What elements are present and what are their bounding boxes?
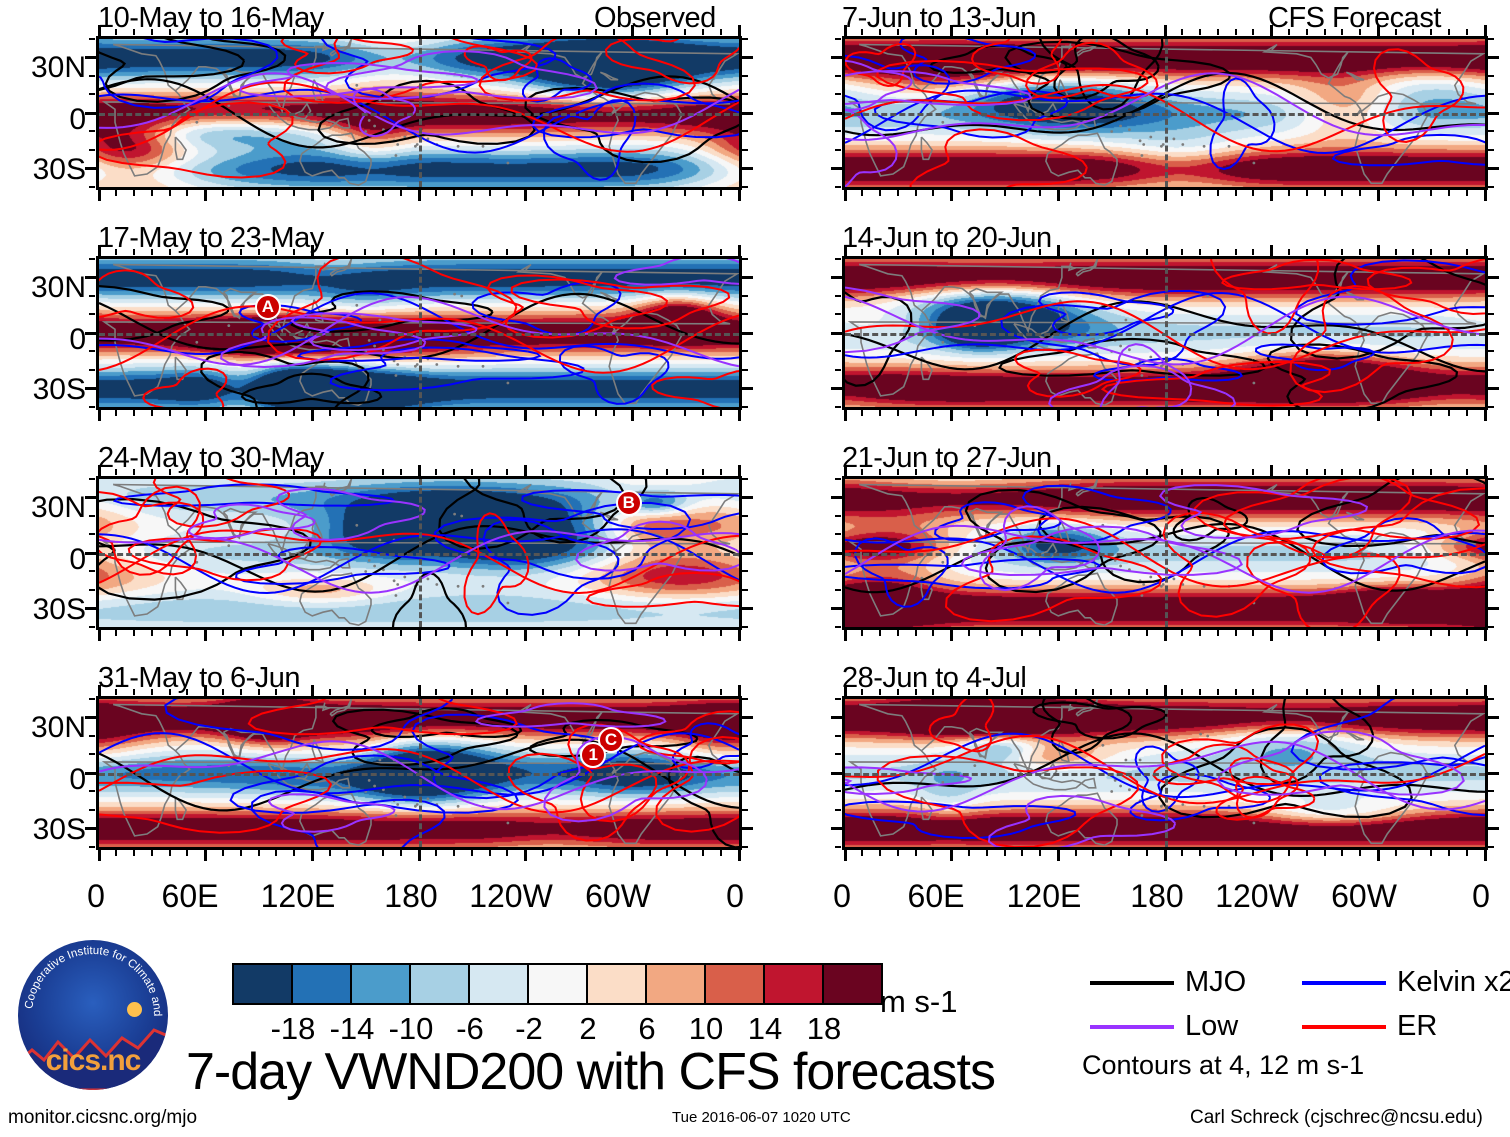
x-tick-top-fcst-2-0 xyxy=(844,245,847,256)
x-tick-top-obs-4-150 xyxy=(364,689,366,695)
x-tick-obs-4-70 xyxy=(222,850,224,856)
x-tick-top-obs-1-60 xyxy=(204,25,207,36)
x-tick-top-obs-3-230 xyxy=(506,469,508,475)
y-tick-r-obs-4-40 xyxy=(742,698,748,700)
x-tick-top-obs-3-290 xyxy=(613,469,615,475)
x-tick-top-obs-3-110 xyxy=(293,469,295,475)
y-tick-r-fcst-4-10 xyxy=(1488,753,1494,755)
panel-title-obs-3: 24-May to 30-May xyxy=(98,444,324,473)
x-tick-top-fcst-3-250 xyxy=(1288,469,1290,475)
x-tick-fcst-4-240 xyxy=(1270,850,1273,861)
x-tick-obs-3-40 xyxy=(169,630,171,636)
x-tick-obs-1-290 xyxy=(613,190,615,196)
x-tick-top-obs-1-220 xyxy=(489,29,491,35)
x-tick-top-obs-2-220 xyxy=(489,249,491,255)
x-tick-top-obs-4-20 xyxy=(133,689,135,695)
panel-title-fcst-3: 21-Jun to 27-Jun xyxy=(842,444,1052,473)
x-tick-top-obs-1-310 xyxy=(649,29,651,35)
x-tick-obs-4-100 xyxy=(275,850,277,856)
x-tick-top-obs-4-120 xyxy=(311,685,314,696)
legend-swatch-kelvin xyxy=(1302,981,1386,985)
x-tick-top-obs-1-100 xyxy=(275,29,277,35)
contour-note: Contours at 4, 12 m s-1 xyxy=(1082,1052,1364,1079)
contour-kelvin xyxy=(1292,699,1486,769)
x-tick-top-fcst-3-60 xyxy=(950,465,953,476)
x-tick-top-obs-2-240 xyxy=(524,245,527,256)
y-tick-obs-4--10 xyxy=(89,790,95,792)
y-tick-r-fcst-1-40 xyxy=(1488,38,1494,40)
dateline xyxy=(1165,259,1168,407)
x-axis-label-left-120e: 120E xyxy=(253,880,343,912)
y-tick-obs-4-40 xyxy=(89,698,95,700)
legend-item-low: Low xyxy=(1090,1012,1238,1041)
x-tick-top-obs-2-360 xyxy=(738,245,741,256)
x-tick-obs-2-220 xyxy=(489,410,491,416)
x-tick-top-fcst-3-0 xyxy=(844,465,847,476)
x-tick-top-fcst-1-170 xyxy=(1146,29,1148,35)
x-tick-fcst-2-360 xyxy=(1484,410,1487,421)
x-tick-obs-1-120 xyxy=(311,190,314,201)
y-tick-r-fcst-4-0 xyxy=(1488,772,1499,775)
y-tick-r-obs-1--20 xyxy=(742,149,748,151)
x-tick-fcst-1-320 xyxy=(1412,190,1414,196)
x-tick-obs-2-0 xyxy=(98,410,101,421)
x-tick-obs-4-260 xyxy=(560,850,562,856)
x-tick-top-obs-1-20 xyxy=(133,29,135,35)
y-tick-r-fcst-4-30 xyxy=(1488,716,1499,719)
x-tick-fcst-2-290 xyxy=(1359,410,1361,416)
x-tick-obs-1-60 xyxy=(204,190,207,201)
x-tick-obs-3-200 xyxy=(453,630,455,636)
x-tick-fcst-1-70 xyxy=(968,190,970,196)
x-tick-top-fcst-1-180 xyxy=(1164,25,1167,36)
x-tick-obs-2-330 xyxy=(684,410,686,416)
x-tick-obs-2-130 xyxy=(329,410,331,416)
x-tick-obs-3-340 xyxy=(702,630,704,636)
x-tick-fcst-3-150 xyxy=(1110,630,1112,636)
x-tick-obs-1-110 xyxy=(293,190,295,196)
x-tick-obs-4-190 xyxy=(435,850,437,856)
y-tick-fcst-2-10 xyxy=(835,313,841,315)
map-marker-1[interactable]: 1 xyxy=(580,742,606,768)
x-tick-top-fcst-1-0 xyxy=(844,25,847,36)
x-axis-label-right-180: 180 xyxy=(1117,880,1197,912)
y-tick-r-fcst-4--40 xyxy=(1488,846,1494,848)
x-tick-top-fcst-3-30 xyxy=(897,469,899,475)
y-tick-fcst-2-20 xyxy=(835,295,841,297)
x-tick-fcst-2-20 xyxy=(879,410,881,416)
x-tick-top-fcst-2-210 xyxy=(1217,249,1219,255)
x-tick-top-fcst-2-250 xyxy=(1288,249,1290,255)
contour-kelvin xyxy=(484,520,619,615)
x-tick-obs-2-70 xyxy=(222,410,224,416)
y-tick-r-obs-1-0 xyxy=(742,112,753,115)
x-tick-obs-4-150 xyxy=(364,850,366,856)
x-tick-obs-2-160 xyxy=(382,410,384,416)
x-tick-fcst-3-120 xyxy=(1057,630,1060,641)
x-tick-top-obs-3-120 xyxy=(311,465,314,476)
x-tick-top-fcst-1-300 xyxy=(1377,25,1380,36)
x-tick-obs-3-260 xyxy=(560,630,562,636)
x-axis-label-left-60w: 60W xyxy=(578,880,658,912)
x-tick-fcst-2-150 xyxy=(1110,410,1112,416)
x-tick-fcst-2-270 xyxy=(1324,410,1326,416)
x-tick-top-obs-3-200 xyxy=(453,469,455,475)
y-tick-r-obs-3--40 xyxy=(742,626,748,628)
y-tick-fcst-4-40 xyxy=(835,698,841,700)
y-tick-obs-4--30 xyxy=(85,827,96,830)
x-tick-top-obs-3-60 xyxy=(204,465,207,476)
map-marker-b[interactable]: B xyxy=(616,490,642,516)
x-tick-fcst-1-260 xyxy=(1306,190,1308,196)
x-tick-top-obs-1-80 xyxy=(240,29,242,35)
y-tick-r-obs-1--30 xyxy=(742,167,753,170)
x-tick-obs-1-80 xyxy=(240,190,242,196)
x-tick-fcst-4-80 xyxy=(986,850,988,856)
x-tick-obs-1-240 xyxy=(524,190,527,201)
x-tick-top-fcst-1-330 xyxy=(1430,29,1432,35)
x-tick-top-obs-3-170 xyxy=(400,469,402,475)
x-tick-top-obs-2-30 xyxy=(151,249,153,255)
x-tick-obs-4-110 xyxy=(293,850,295,856)
x-tick-fcst-1-20 xyxy=(879,190,881,196)
map-panel-obs-4[interactable] xyxy=(96,696,742,850)
x-tick-fcst-1-140 xyxy=(1092,190,1094,196)
contour-kelvin xyxy=(1001,291,1225,366)
x-tick-top-fcst-2-70 xyxy=(968,249,970,255)
y-tick-r-obs-2-0 xyxy=(742,332,753,335)
x-tick-fcst-1-90 xyxy=(1004,190,1006,196)
x-tick-fcst-3-360 xyxy=(1484,630,1487,641)
x-tick-fcst-2-190 xyxy=(1181,410,1183,416)
x-tick-top-obs-1-160 xyxy=(382,29,384,35)
panel-title-obs-2: 17-May to 23-May xyxy=(98,224,324,253)
y-tick-r-obs-1-10 xyxy=(742,93,748,95)
x-tick-top-obs-4-350 xyxy=(720,689,722,695)
x-tick-top-obs-1-350 xyxy=(720,29,722,35)
x-tick-fcst-1-270 xyxy=(1324,190,1326,196)
y-tick-r-obs-4--10 xyxy=(742,790,748,792)
x-tick-top-obs-1-90 xyxy=(258,29,260,35)
x-tick-top-fcst-2-140 xyxy=(1092,249,1094,255)
x-tick-top-fcst-3-290 xyxy=(1359,469,1361,475)
x-tick-top-obs-1-180 xyxy=(418,25,421,36)
x-tick-top-obs-4-140 xyxy=(346,689,348,695)
y-axis-label-30s-row1: 30S xyxy=(0,375,86,405)
y-tick-fcst-2--30 xyxy=(831,387,842,390)
x-tick-top-fcst-4-90 xyxy=(1004,689,1006,695)
x-tick-obs-3-50 xyxy=(186,630,188,636)
x-tick-obs-2-80 xyxy=(240,410,242,416)
x-tick-obs-2-90 xyxy=(258,410,260,416)
x-tick-obs-3-210 xyxy=(471,630,473,636)
x-tick-top-fcst-3-140 xyxy=(1092,469,1094,475)
x-tick-top-fcst-2-80 xyxy=(986,249,988,255)
x-tick-top-fcst-1-130 xyxy=(1075,29,1077,35)
x-tick-obs-4-120 xyxy=(311,850,314,861)
x-tick-top-obs-2-180 xyxy=(418,245,421,256)
x-tick-obs-2-120 xyxy=(311,410,314,421)
x-tick-obs-3-60 xyxy=(204,630,207,641)
y-tick-r-fcst-1-20 xyxy=(1488,75,1494,77)
x-tick-obs-2-210 xyxy=(471,410,473,416)
x-tick-top-obs-3-350 xyxy=(720,469,722,475)
x-tick-top-obs-2-260 xyxy=(560,249,562,255)
x-tick-top-fcst-4-150 xyxy=(1110,689,1112,695)
contour-low xyxy=(989,796,1175,847)
x-tick-top-fcst-2-100 xyxy=(1021,249,1023,255)
y-tick-obs-3--20 xyxy=(89,589,95,591)
y-tick-obs-2-0 xyxy=(85,332,96,335)
colorbar-units-label: m s-1 xyxy=(880,986,958,1017)
x-tick-obs-1-260 xyxy=(560,190,562,196)
x-tick-obs-4-360 xyxy=(738,850,741,861)
map-panel-obs-2[interactable] xyxy=(96,256,742,410)
x-tick-top-fcst-4-70 xyxy=(968,689,970,695)
x-tick-top-fcst-4-250 xyxy=(1288,689,1290,695)
x-tick-obs-4-280 xyxy=(595,850,597,856)
y-tick-obs-3-30 xyxy=(85,496,96,499)
x-tick-obs-2-170 xyxy=(400,410,402,416)
x-tick-top-fcst-1-360 xyxy=(1484,25,1487,36)
y-tick-obs-4-10 xyxy=(89,753,95,755)
y-tick-r-obs-3--30 xyxy=(742,607,753,610)
y-tick-r-obs-2-20 xyxy=(742,295,748,297)
dateline xyxy=(1165,699,1168,847)
map-panel-obs-3[interactable] xyxy=(96,476,742,630)
x-tick-top-obs-4-330 xyxy=(684,689,686,695)
x-tick-fcst-3-200 xyxy=(1199,630,1201,636)
x-tick-fcst-2-340 xyxy=(1448,410,1450,416)
x-tick-fcst-4-100 xyxy=(1021,850,1023,856)
x-tick-fcst-1-190 xyxy=(1181,190,1183,196)
x-tick-fcst-1-280 xyxy=(1341,190,1343,196)
y-tick-obs-2-10 xyxy=(89,313,95,315)
x-tick-obs-3-240 xyxy=(524,630,527,641)
y-tick-fcst-2--10 xyxy=(835,350,841,352)
map-panel-obs-1[interactable] xyxy=(96,36,742,190)
x-tick-top-fcst-1-160 xyxy=(1128,29,1130,35)
x-tick-fcst-2-240 xyxy=(1270,410,1273,421)
y-tick-r-obs-2--10 xyxy=(742,350,748,352)
x-tick-fcst-3-320 xyxy=(1412,630,1414,636)
x-tick-fcst-3-20 xyxy=(879,630,881,636)
x-tick-top-obs-1-170 xyxy=(400,29,402,35)
x-tick-top-obs-2-70 xyxy=(222,249,224,255)
y-tick-fcst-3-10 xyxy=(835,533,841,535)
x-tick-fcst-3-290 xyxy=(1359,630,1361,636)
x-tick-fcst-3-350 xyxy=(1466,630,1468,636)
contour-kelvin xyxy=(1333,135,1485,165)
y-tick-fcst-1-0 xyxy=(831,112,842,115)
x-tick-top-obs-2-140 xyxy=(346,249,348,255)
panel-title-fcst-2: 14-Jun to 20-Jun xyxy=(842,224,1052,253)
legend-swatch-mjo xyxy=(1090,981,1174,985)
x-tick-top-fcst-2-130 xyxy=(1075,249,1077,255)
x-tick-obs-3-180 xyxy=(418,630,421,641)
map-panel-fcst-3[interactable] xyxy=(842,476,1488,630)
x-tick-top-obs-3-360 xyxy=(738,465,741,476)
x-tick-obs-2-150 xyxy=(364,410,366,416)
x-tick-obs-1-270 xyxy=(578,190,580,196)
x-tick-fcst-1-210 xyxy=(1217,190,1219,196)
x-tick-top-obs-4-300 xyxy=(631,685,634,696)
x-tick-fcst-2-260 xyxy=(1306,410,1308,416)
x-tick-top-obs-4-210 xyxy=(471,689,473,695)
x-tick-top-obs-4-250 xyxy=(542,689,544,695)
y-tick-r-obs-4-20 xyxy=(742,735,748,737)
x-tick-fcst-4-220 xyxy=(1235,850,1237,856)
x-tick-fcst-1-100 xyxy=(1021,190,1023,196)
x-tick-top-obs-1-10 xyxy=(115,29,117,35)
x-tick-top-obs-3-280 xyxy=(595,469,597,475)
x-tick-top-fcst-2-170 xyxy=(1146,249,1148,255)
x-tick-top-obs-2-250 xyxy=(542,249,544,255)
contour-er xyxy=(465,513,529,614)
x-tick-fcst-3-250 xyxy=(1288,630,1290,636)
x-tick-obs-2-180 xyxy=(418,410,421,421)
x-tick-top-obs-1-320 xyxy=(666,29,668,35)
y-tick-r-fcst-3-20 xyxy=(1488,515,1494,517)
x-tick-top-obs-4-170 xyxy=(400,689,402,695)
y-tick-r-fcst-2--40 xyxy=(1488,406,1494,408)
x-tick-top-fcst-2-150 xyxy=(1110,249,1112,255)
x-tick-top-obs-1-280 xyxy=(595,29,597,35)
x-tick-obs-4-60 xyxy=(204,850,207,861)
x-tick-obs-3-80 xyxy=(240,630,242,636)
x-tick-top-fcst-2-20 xyxy=(879,249,881,255)
y-tick-r-obs-1-20 xyxy=(742,75,748,77)
x-tick-obs-4-30 xyxy=(151,850,153,856)
x-tick-top-obs-4-180 xyxy=(418,685,421,696)
y-tick-r-obs-3--10 xyxy=(742,570,748,572)
x-tick-obs-3-70 xyxy=(222,630,224,636)
x-tick-top-obs-4-0 xyxy=(98,685,101,696)
x-tick-top-fcst-3-300 xyxy=(1377,465,1380,476)
x-tick-top-fcst-2-60 xyxy=(950,245,953,256)
legend-item-mjo: MJO xyxy=(1090,968,1246,997)
x-tick-obs-2-200 xyxy=(453,410,455,416)
column-header-cfs-forecast: CFS Forecast xyxy=(1268,4,1441,33)
x-tick-top-obs-3-80 xyxy=(240,469,242,475)
x-tick-obs-2-110 xyxy=(293,410,295,416)
x-tick-fcst-2-200 xyxy=(1199,410,1201,416)
x-tick-fcst-4-250 xyxy=(1288,850,1290,856)
page-title: 7-day VWND200 with CFS forecasts xyxy=(186,1046,995,1098)
y-tick-r-obs-4--20 xyxy=(742,809,748,811)
colorbar-swatch-10 xyxy=(824,965,881,1003)
footer-timestamp: Tue 2016-06-07 1020 UTC xyxy=(672,1110,851,1125)
x-tick-top-fcst-3-330 xyxy=(1430,469,1432,475)
y-tick-r-obs-4-0 xyxy=(742,772,753,775)
x-tick-obs-1-50 xyxy=(186,190,188,196)
x-tick-fcst-1-0 xyxy=(844,190,847,201)
x-tick-top-fcst-2-230 xyxy=(1252,249,1254,255)
dateline xyxy=(1165,39,1168,187)
x-tick-top-fcst-1-40 xyxy=(915,29,917,35)
x-tick-top-fcst-1-190 xyxy=(1181,29,1183,35)
x-tick-top-obs-2-150 xyxy=(364,249,366,255)
x-tick-obs-4-270 xyxy=(578,850,580,856)
y-tick-r-obs-3-40 xyxy=(742,478,748,480)
y-tick-r-fcst-3--10 xyxy=(1488,570,1494,572)
x-tick-obs-4-170 xyxy=(400,850,402,856)
x-axis-label-right-60e: 60E xyxy=(896,880,976,912)
x-tick-fcst-4-350 xyxy=(1466,850,1468,856)
colorbar-swatch-5 xyxy=(529,965,588,1003)
x-tick-fcst-3-70 xyxy=(968,630,970,636)
x-tick-top-obs-4-360 xyxy=(738,685,741,696)
x-tick-top-fcst-4-360 xyxy=(1484,685,1487,696)
x-tick-top-obs-3-40 xyxy=(169,469,171,475)
x-tick-top-fcst-4-220 xyxy=(1235,689,1237,695)
x-tick-obs-4-230 xyxy=(506,850,508,856)
map-panel-fcst-4[interactable] xyxy=(842,696,1488,850)
map-panel-fcst-1[interactable] xyxy=(842,36,1488,190)
x-tick-top-obs-4-80 xyxy=(240,689,242,695)
y-tick-obs-2--20 xyxy=(89,369,95,371)
map-marker-a[interactable]: A xyxy=(255,294,281,320)
y-tick-fcst-1--40 xyxy=(835,186,841,188)
x-tick-obs-2-290 xyxy=(613,410,615,416)
x-tick-fcst-1-200 xyxy=(1199,190,1201,196)
x-tick-obs-1-160 xyxy=(382,190,384,196)
x-axis-label-left-60e: 60E xyxy=(150,880,230,912)
y-tick-r-fcst-2-10 xyxy=(1488,313,1494,315)
x-tick-fcst-3-60 xyxy=(950,630,953,641)
contour-er xyxy=(652,370,739,407)
x-tick-fcst-3-180 xyxy=(1164,630,1167,641)
x-tick-top-obs-3-100 xyxy=(275,469,277,475)
y-tick-r-obs-1-30 xyxy=(742,56,753,59)
x-tick-top-obs-3-320 xyxy=(666,469,668,475)
x-tick-top-fcst-2-220 xyxy=(1235,249,1237,255)
y-tick-r-obs-1--40 xyxy=(742,186,748,188)
x-tick-top-obs-4-260 xyxy=(560,689,562,695)
footer-url[interactable]: monitor.cicsnc.org/mjo xyxy=(8,1108,197,1127)
x-tick-obs-1-40 xyxy=(169,190,171,196)
x-tick-top-obs-2-320 xyxy=(666,249,668,255)
x-tick-top-fcst-3-40 xyxy=(915,469,917,475)
x-tick-fcst-1-340 xyxy=(1448,190,1450,196)
x-tick-obs-1-130 xyxy=(329,190,331,196)
x-tick-top-fcst-2-350 xyxy=(1466,249,1468,255)
y-tick-obs-3-20 xyxy=(89,515,95,517)
x-tick-fcst-1-330 xyxy=(1430,190,1432,196)
x-tick-obs-3-90 xyxy=(258,630,260,636)
y-tick-obs-3--30 xyxy=(85,607,96,610)
x-tick-top-obs-1-150 xyxy=(364,29,366,35)
x-tick-top-fcst-4-50 xyxy=(932,689,934,695)
x-tick-fcst-4-50 xyxy=(932,850,934,856)
x-tick-obs-2-30 xyxy=(151,410,153,416)
x-tick-fcst-2-110 xyxy=(1039,410,1041,416)
x-tick-top-fcst-1-140 xyxy=(1092,29,1094,35)
map-panel-fcst-2[interactable] xyxy=(842,256,1488,410)
x-tick-top-obs-2-10 xyxy=(115,249,117,255)
y-tick-r-fcst-4--20 xyxy=(1488,809,1494,811)
y-tick-r-obs-3-20 xyxy=(742,515,748,517)
x-tick-fcst-3-240 xyxy=(1270,630,1273,641)
x-tick-top-fcst-3-160 xyxy=(1128,469,1130,475)
x-tick-top-fcst-3-70 xyxy=(968,469,970,475)
x-tick-top-obs-1-40 xyxy=(169,29,171,35)
x-tick-top-obs-4-280 xyxy=(595,689,597,695)
x-tick-top-obs-4-320 xyxy=(666,689,668,695)
x-tick-top-fcst-1-120 xyxy=(1057,25,1060,36)
x-tick-obs-2-190 xyxy=(435,410,437,416)
y-tick-fcst-1--20 xyxy=(835,149,841,151)
